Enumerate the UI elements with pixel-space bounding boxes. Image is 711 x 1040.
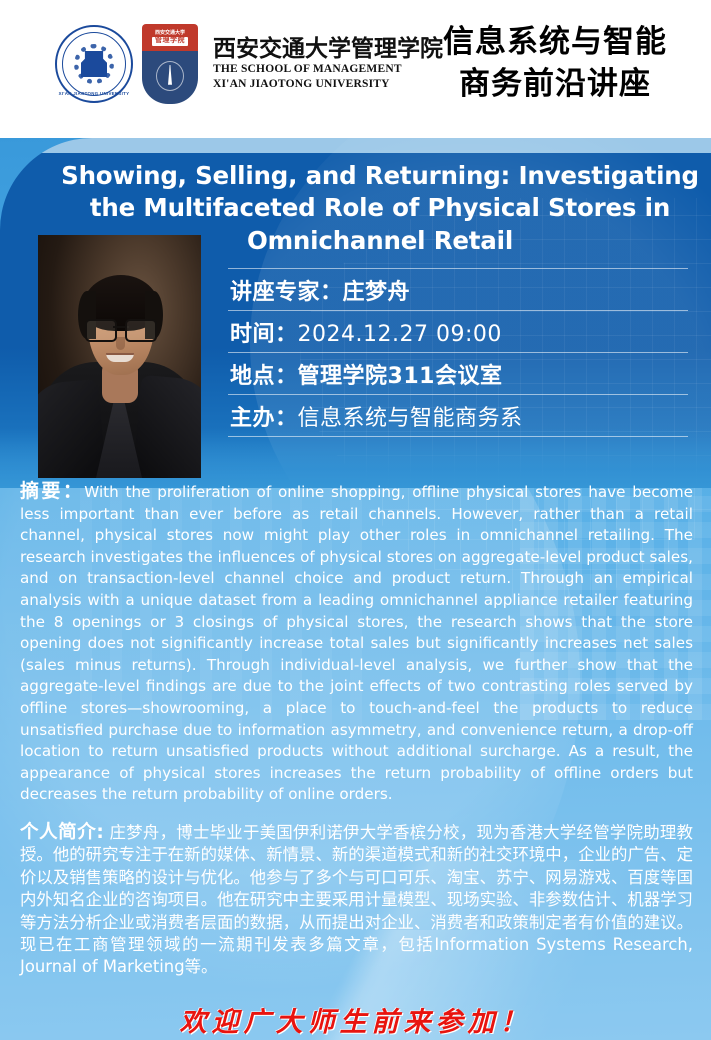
- info-label-speaker: 讲座专家：: [230, 274, 343, 306]
- speaker-photo: [38, 235, 201, 478]
- som-shield-logo: 西安交通大学 管理学院: [142, 24, 198, 104]
- info-row-time: 时间： 2024.12.27 09:00: [228, 311, 688, 352]
- info-label-time: 时间：: [230, 316, 298, 348]
- logo-row: XI'AN JIAOTONG UNIVERSITY 西安交通大学 管理学院 西安…: [55, 24, 443, 104]
- info-row-organizer: 主办： 信息系统与智能商务系: [228, 395, 688, 436]
- event-info-block: 讲座专家： 庄梦舟 时间： 2024.12.27 09:00 地点： 管理学院3…: [228, 268, 688, 437]
- info-value-speaker: 庄梦舟: [343, 274, 411, 306]
- bio-label: 个人简介:: [20, 822, 104, 843]
- shield-top-line: 西安交通大学: [155, 30, 185, 36]
- wordmark: 西安交通大学管理学院 THE SCHOOL OF MANAGEMENT XI'A…: [213, 36, 443, 91]
- glasses-lens-right: [125, 319, 157, 342]
- series-title-line2: 商务前沿讲座: [421, 64, 689, 106]
- wordmark-english-line1: THE SCHOOL OF MANAGEMENT: [213, 62, 443, 77]
- info-value-time: 2024.12.27 09:00: [298, 322, 502, 347]
- seal-emblem-icon: [81, 51, 107, 77]
- info-label-organizer: 主办：: [230, 400, 298, 432]
- seal-ring-text: XI'AN JIAOTONG UNIVERSITY: [57, 91, 131, 96]
- bio-block: 个人简介: 庄梦舟，博士毕业于美国伊利诺伊大学香槟分校，现为香港大学经管学院助理…: [20, 822, 693, 979]
- abstract-label: 摘要：: [20, 480, 84, 502]
- glasses-lens-left: [85, 319, 117, 342]
- info-value-location: 管理学院311会议室: [298, 358, 503, 390]
- bio-body: 庄梦舟，博士毕业于美国伊利诺伊大学香槟分校，现为香港大学经管学院助理教授。他的研…: [20, 823, 693, 976]
- wordmark-english-line2: XI'AN JIAOTONG UNIVERSITY: [213, 77, 443, 92]
- photo-glasses-icon: [85, 319, 157, 339]
- welcome-message: 欢迎广大师生前来参加！: [0, 1000, 711, 1039]
- seminar-poster: XI'AN JIAOTONG UNIVERSITY 西安交通大学 管理学院 西安…: [0, 0, 711, 1040]
- info-row-location: 地点： 管理学院311会议室: [228, 353, 688, 394]
- poster-header: XI'AN JIAOTONG UNIVERSITY 西安交通大学 管理学院 西安…: [0, 0, 711, 138]
- abstract-body: With the proliferation of online shoppin…: [20, 483, 693, 803]
- xjtu-seal-logo: XI'AN JIAOTONG UNIVERSITY: [55, 25, 133, 103]
- series-title: 信息系统与智能 商务前沿讲座: [421, 22, 689, 106]
- info-label-location: 地点：: [230, 358, 298, 390]
- info-row-speaker: 讲座专家： 庄梦舟: [228, 269, 688, 310]
- shield-top: 西安交通大学 管理学院: [142, 24, 198, 51]
- abstract-block: 摘要：With the proliferation of online shop…: [20, 481, 693, 806]
- shield-pagoda-icon: [156, 61, 184, 91]
- info-value-organizer: 信息系统与智能商务系: [298, 400, 523, 432]
- photo-shoulder-right: [133, 375, 201, 478]
- series-title-line1: 信息系统与智能: [421, 22, 689, 64]
- photo-shoulder-left: [38, 379, 106, 478]
- info-separator: [228, 436, 688, 437]
- wordmark-chinese: 西安交通大学管理学院: [213, 36, 443, 61]
- shield-band-label: 管理学院: [152, 37, 188, 46]
